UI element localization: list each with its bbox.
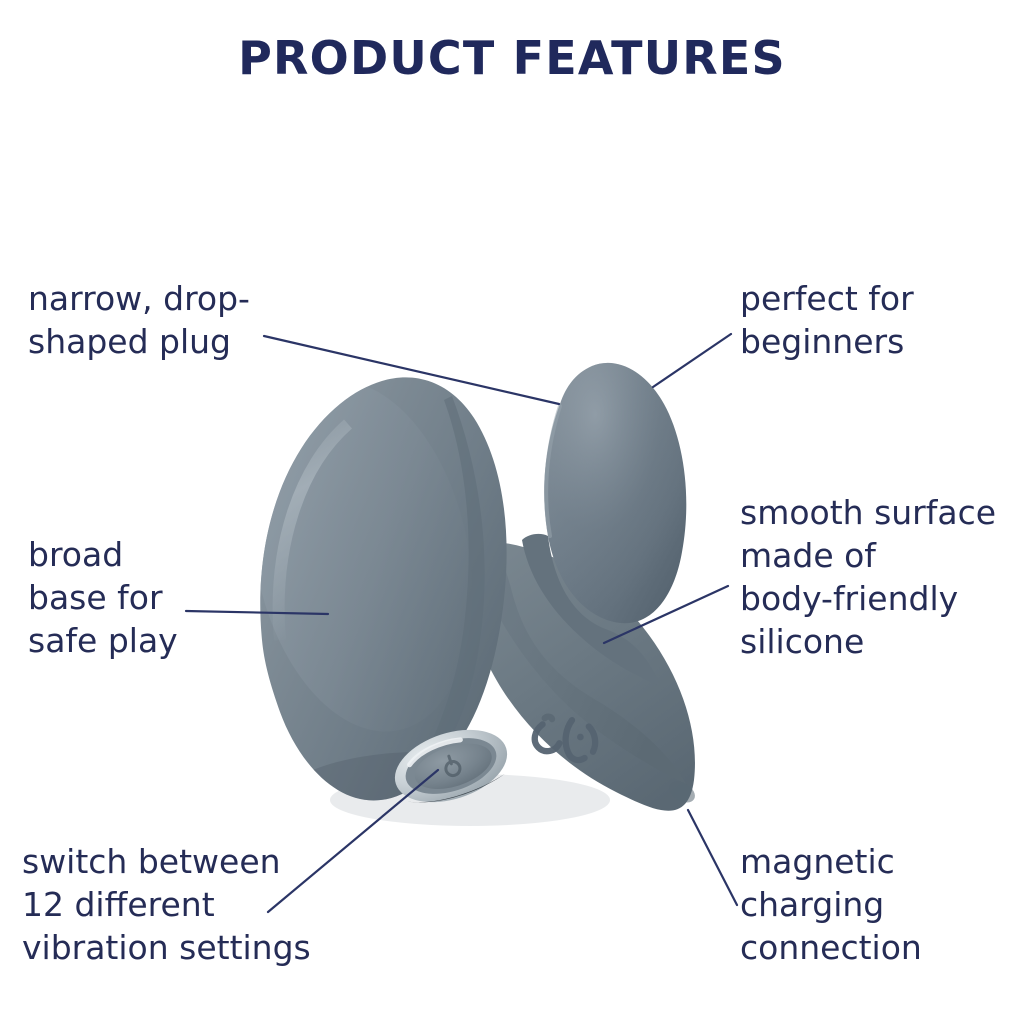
- product-features-infographic: PRODUCT FEATURES: [0, 0, 1024, 1024]
- callout-perfect-for-beginners: perfect for beginners: [740, 278, 914, 364]
- callout-broad-base-for-safe-play: broad base for safe play: [28, 534, 178, 663]
- callout-smooth-surface-body-friendly-silicone: smooth surface made of body-friendly sil…: [740, 492, 996, 664]
- callout-magnetic-charging-connection: magnetic charging connection: [740, 841, 922, 970]
- callout-narrow-drop-shaped-plug: narrow, drop- shaped plug: [28, 278, 250, 364]
- callout-switch-12-vibration-settings: switch between 12 different vibration se…: [22, 841, 311, 970]
